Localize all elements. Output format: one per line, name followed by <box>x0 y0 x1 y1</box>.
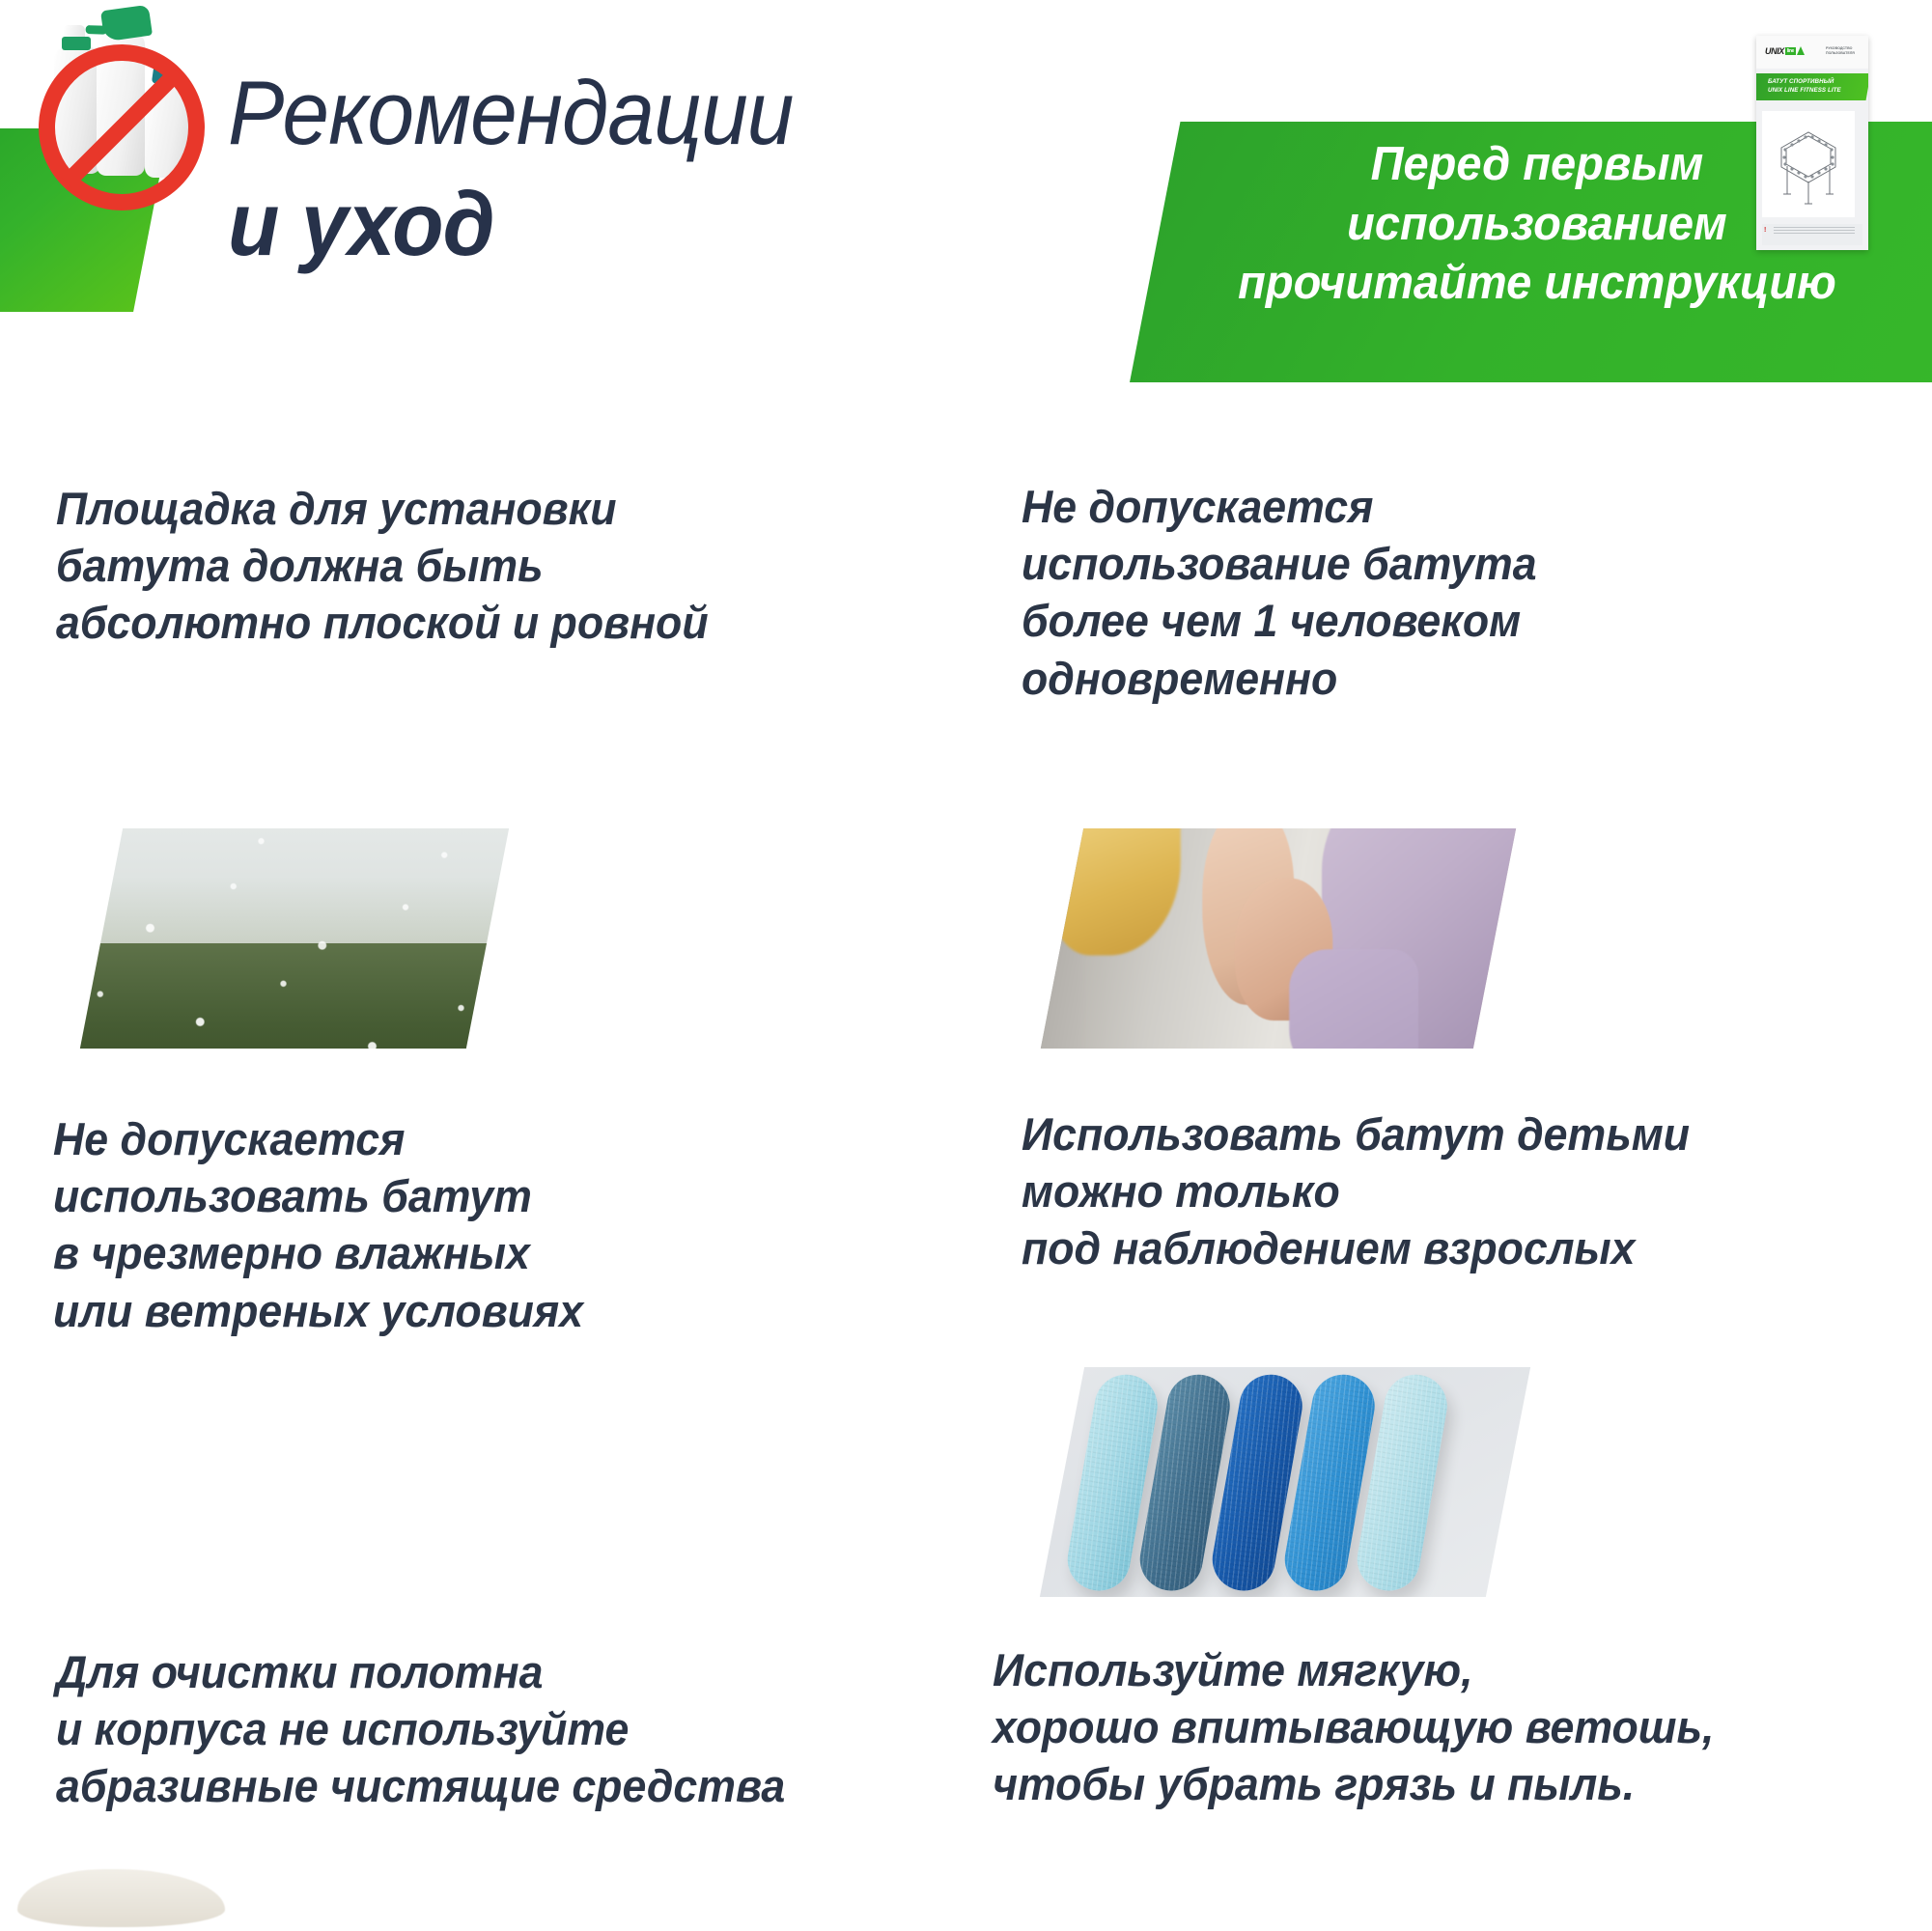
tip-site-text: Площадка для установки батута должна быт… <box>56 480 709 652</box>
tip-one-person-line-2: использование батута <box>1022 535 1537 592</box>
tip-children-line-3: под наблюдением взрослых <box>1022 1219 1690 1276</box>
cleaning-bag-region <box>17 1869 225 1927</box>
tip-children-line-1: Использовать батут детьми <box>1022 1105 1690 1162</box>
tip-weather-line-4: или ветреных условиях <box>53 1282 583 1339</box>
tip-children-text: Использовать батут детьми можно только п… <box>1022 1105 1690 1277</box>
user-manual-thumbnail: UNIXline РУКОВОДСТВО ПОЛЬЗОВАТЕЛЯ БАТУТ … <box>1756 36 1868 250</box>
manual-arrow-icon <box>1797 46 1805 55</box>
tip-abrasive-line-1: Для очистки полотна <box>56 1643 785 1700</box>
tip-rag-text: Используйте мягкую, хорошо впитывающую в… <box>993 1641 1714 1813</box>
manual-warning-icon: ! <box>1764 227 1766 234</box>
spray-trigger-icon <box>100 5 153 42</box>
trampoline-line-drawing-icon <box>1762 111 1855 217</box>
prohibition-sign-icon <box>39 44 205 210</box>
tip-weather-line-3: в чрезмерно влажных <box>53 1224 583 1281</box>
tip-rag-line-2: хорошо впитывающую ветошь, <box>993 1698 1714 1755</box>
tip-one-person-line-4: одновременно <box>1022 650 1537 707</box>
page-title-line-2: и уход <box>228 169 1000 280</box>
page-title: Рекомендации и уход <box>228 58 1000 279</box>
tip-abrasive-text: Для очистки полотна и корпуса не использ… <box>56 1643 785 1815</box>
tip-abrasive-line-3: абразивные чистящие средства <box>56 1757 785 1814</box>
tip-site-line-1: Площадка для установки <box>56 480 709 537</box>
manual-brand-logo: UNIXline <box>1765 46 1805 56</box>
manual-footer-lines <box>1774 227 1855 236</box>
manual-footer-note: ! <box>1762 224 1862 245</box>
manual-subtitle: РУКОВОДСТВО ПОЛЬЗОВАТЕЛЯ <box>1826 46 1862 56</box>
tip-weather-line-1: Не допускается <box>53 1110 583 1167</box>
tip-children-line-2: можно только <box>1022 1162 1690 1219</box>
tip-one-person-line-1: Не допускается <box>1022 478 1537 535</box>
tip-rag-line-3: чтобы убрать грязь и пыль. <box>993 1755 1714 1812</box>
manual-product-illustration <box>1762 111 1855 217</box>
manual-brand-name: UNIX <box>1765 46 1784 56</box>
rainy-window-photo <box>80 828 509 1049</box>
cleaner-bottle-left-cap <box>62 37 91 50</box>
adult-child-holding-hands-photo <box>1041 828 1516 1049</box>
tip-one-person-line-3: более чем 1 человеком <box>1022 592 1537 649</box>
tip-site-line-3: абсолютно плоской и ровной <box>56 594 709 651</box>
rainy-window-photo-inner <box>80 828 509 1049</box>
tip-weather-text: Не допускается использовать батут в чрез… <box>53 1110 583 1339</box>
child-coat-cuff-region <box>1289 949 1418 1049</box>
page-title-line-1: Рекомендации <box>228 58 1000 169</box>
manual-band-line-2: UNIX LINE FITNESS LITE <box>1768 87 1864 96</box>
microfiber-cloths-photo-inner <box>1040 1367 1530 1597</box>
tip-one-person-text: Не допускается использование батута боле… <box>1022 478 1537 707</box>
manual-band-text: БАТУТ СПОРТИВНЫЙ UNIX LINE FITNESS LITE <box>1768 78 1864 96</box>
microfiber-cloths-photo <box>1040 1367 1530 1597</box>
tip-weather-line-2: использовать батут <box>53 1167 583 1224</box>
tip-site-line-2: батута должна быть <box>56 537 709 594</box>
tip-abrasive-line-2: и корпуса не используйте <box>56 1700 785 1757</box>
banner-line-3: прочитайте инструкцию <box>1213 254 1862 314</box>
tip-rag-line-1: Используйте мягкую, <box>993 1641 1714 1698</box>
manual-band-line-1: БАТУТ СПОРТИВНЫЙ <box>1768 78 1864 87</box>
rain-droplets-overlay <box>80 828 509 1049</box>
holding-hands-photo-inner <box>1041 828 1516 1049</box>
manual-brand-chip: line <box>1785 47 1796 55</box>
